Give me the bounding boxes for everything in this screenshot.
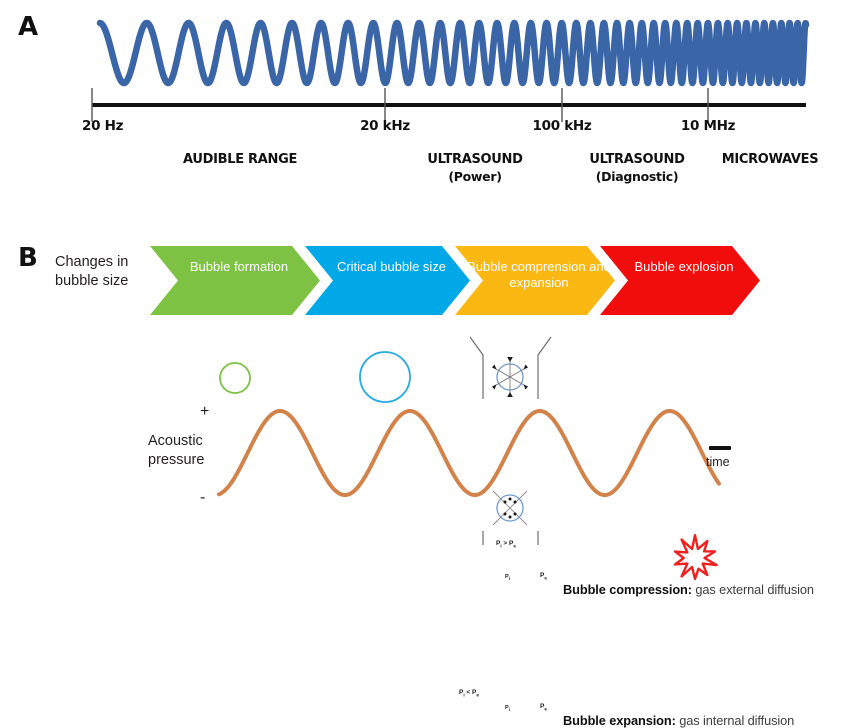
compression-pressure-outer: Pe	[540, 572, 547, 580]
compression-pressure-inner: Pi	[505, 574, 510, 581]
frequency-range-main-3: MICROWAVES	[722, 152, 819, 167]
frequency-range-3: MICROWAVES	[722, 152, 819, 169]
frequency-range-1: ULTRASOUND(Power)	[427, 152, 522, 185]
stage-arrow-label-bubble-explosion: Bubble explosion	[604, 259, 764, 275]
caption-1: Bubble expansion: gas internal diffusion	[563, 713, 794, 728]
acoustic-pressure-wave	[215, 395, 745, 515]
panel-a: A 20 Hz20 kHz100 kHz10 MHz AUDIBLE RANGE…	[0, 0, 850, 205]
compression-pressure-top: Pi > Pe	[496, 540, 516, 548]
axis-tick-label-3: 10 MHz	[681, 118, 735, 134]
figure-root: A 20 Hz20 kHz100 kHz10 MHz AUDIBLE RANGE…	[0, 0, 850, 549]
panel-b: B Changes in bubble size Bubble formatio…	[0, 205, 850, 549]
caption-rest-0: gas external diffusion	[692, 582, 814, 597]
stage-arrow-label-critical-bubble-size: Critical bubble size	[312, 259, 472, 275]
expansion-pressure-outer: Pe	[540, 703, 547, 711]
acoustic-minus-sign: -	[200, 490, 205, 506]
acoustic-plus-sign: +	[200, 404, 209, 420]
stage-arrow-label-bubble-compression-expansion: Bubble comprension and expansion	[459, 259, 619, 292]
expansion-pressure-top: Pi < Pe	[459, 689, 479, 697]
compression-bubble-diagram	[492, 357, 528, 397]
caption-bold-0: Bubble compression:	[563, 582, 692, 597]
frequency-range-2: ULTRASOUND(Diagnostic)	[589, 152, 684, 185]
explosion-star-icon	[662, 530, 732, 590]
frequency-range-main-0: AUDIBLE RANGE	[183, 152, 297, 167]
caption-rest-1: gas internal diffusion	[676, 713, 794, 728]
axis-tick-label-0: 20 Hz	[82, 118, 123, 134]
frequency-range-sub-2: (Diagnostic)	[589, 169, 684, 185]
frequency-range-sub-1: (Power)	[427, 169, 522, 185]
axis-tick-label-2: 100 kHz	[533, 118, 592, 134]
frequency-range-main-1: ULTRASOUND	[427, 152, 522, 167]
stage-arrow-bubble-formation[interactable]	[150, 246, 320, 315]
stage-arrow-bubble-explosion[interactable]	[600, 246, 760, 315]
time-label: time	[706, 455, 730, 469]
stage-arrow-critical-bubble-size[interactable]	[305, 246, 470, 315]
axis-tick-label-1: 20 kHz	[360, 118, 410, 134]
caption-0: Bubble compression: gas external diffusi…	[563, 582, 814, 597]
time-axis-bar	[709, 446, 731, 450]
stage-arrow-label-bubble-formation: Bubble formation	[159, 259, 319, 275]
frequency-range-main-2: ULTRASOUND	[589, 152, 684, 167]
caption-bold-1: Bubble expansion:	[563, 713, 676, 728]
expansion-pressure-inner: Pi	[505, 705, 510, 712]
frequency-range-0: AUDIBLE RANGE	[183, 152, 297, 169]
small-bubble	[220, 363, 250, 393]
